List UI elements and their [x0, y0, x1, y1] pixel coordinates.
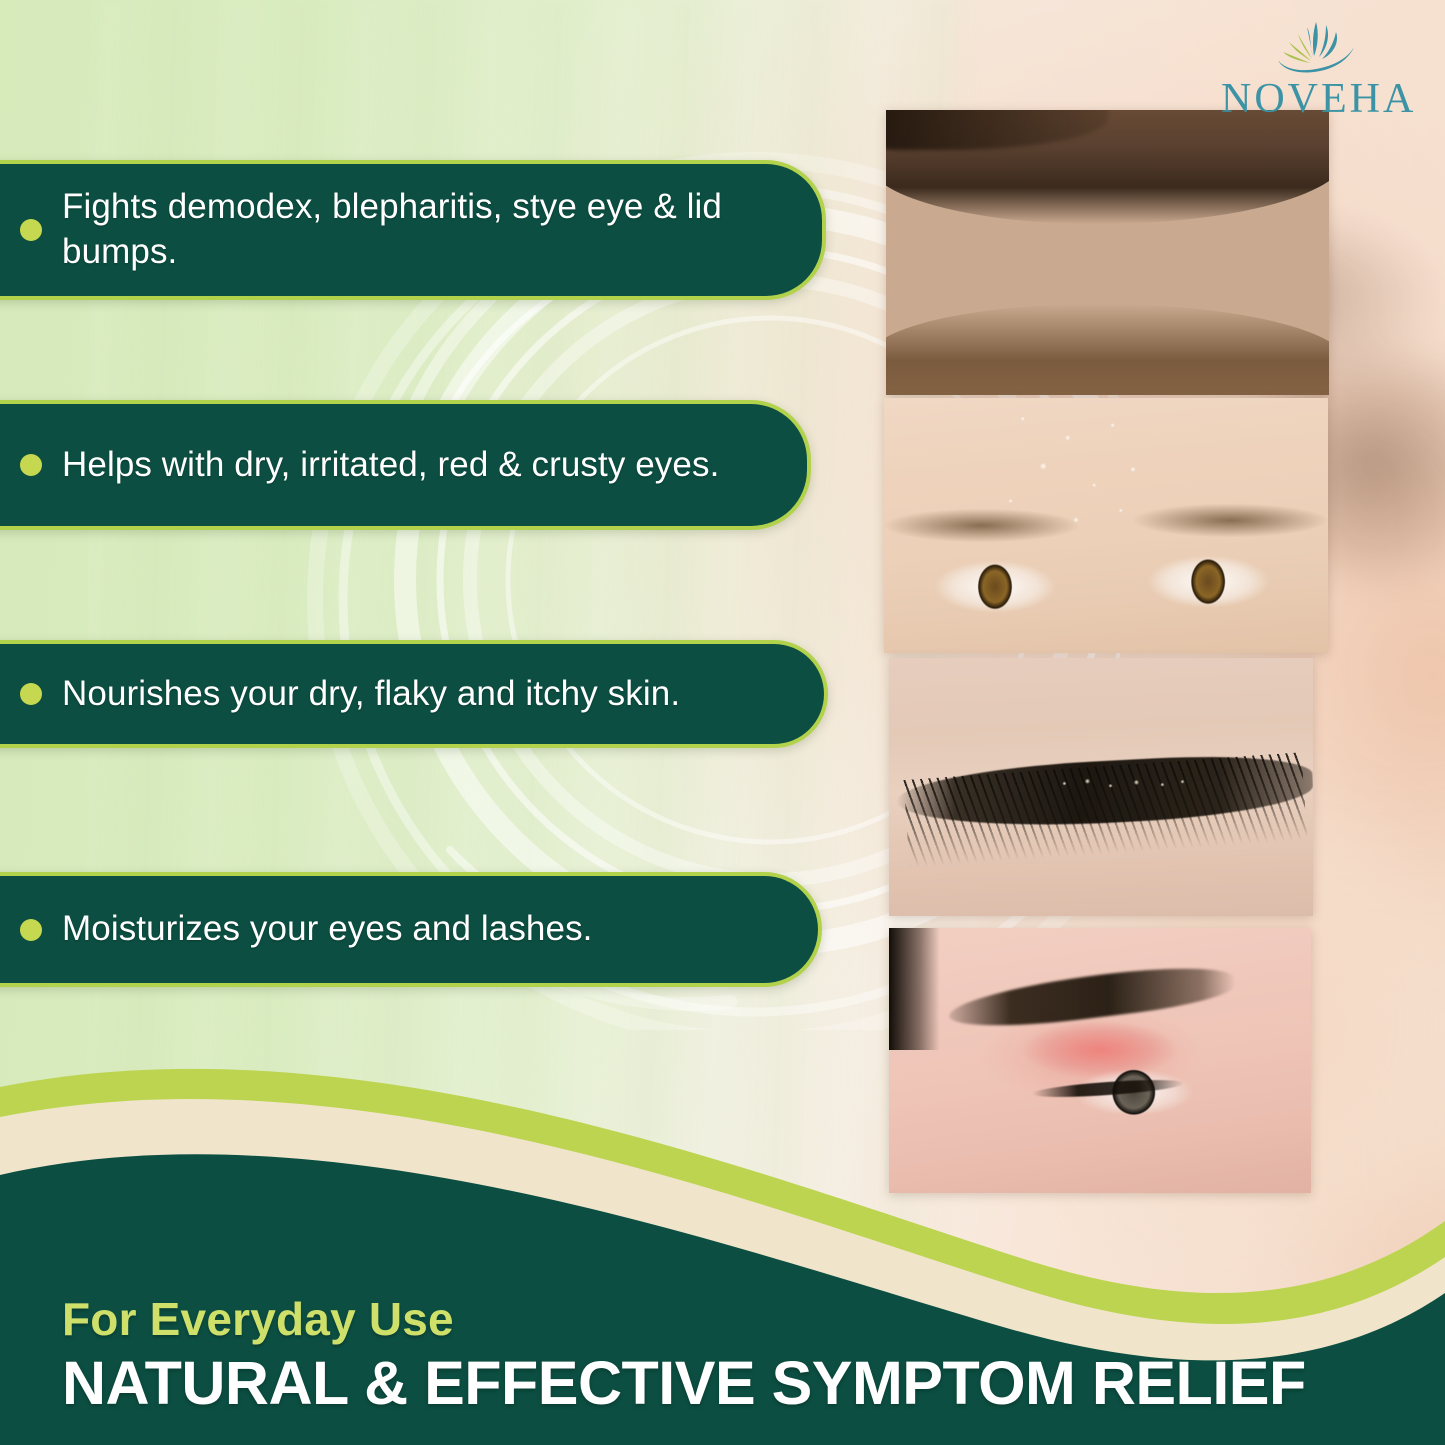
benefit-pill-4: Moisturizes your eyes and lashes. [0, 872, 822, 987]
benefit-text: Nourishes your dry, flaky and itchy skin… [62, 672, 680, 717]
benefit-text: Moisturizes your eyes and lashes. [62, 907, 593, 952]
benefit-text: Helps with dry, irritated, red & crusty … [62, 443, 719, 488]
photo-red-eye [886, 110, 1329, 395]
dot-bullet-icon [20, 454, 42, 476]
dot-bullet-icon [20, 219, 42, 241]
benefit-pill-3: Nourishes your dry, flaky and itchy skin… [0, 640, 828, 748]
wave-divider [0, 1025, 1445, 1445]
photo-crusty-lashes [889, 658, 1313, 916]
leaf-fan-icon [1256, 14, 1376, 76]
photo-dry-flaky-skin [884, 398, 1328, 653]
product-benefits-infographic: Fights demodex, blepharitis, stye eye & … [0, 0, 1445, 1445]
benefit-pill-1: Fights demodex, blepharitis, stye eye & … [0, 160, 826, 300]
brand-logo: NOVEHA [1221, 14, 1411, 120]
dot-bullet-icon [20, 683, 42, 705]
dot-bullet-icon [20, 919, 42, 941]
brand-wordmark: NOVEHA [1221, 78, 1411, 120]
benefit-pill-2: Helps with dry, irritated, red & crusty … [0, 400, 811, 530]
benefit-text: Fights demodex, blepharitis, stye eye & … [62, 185, 788, 275]
